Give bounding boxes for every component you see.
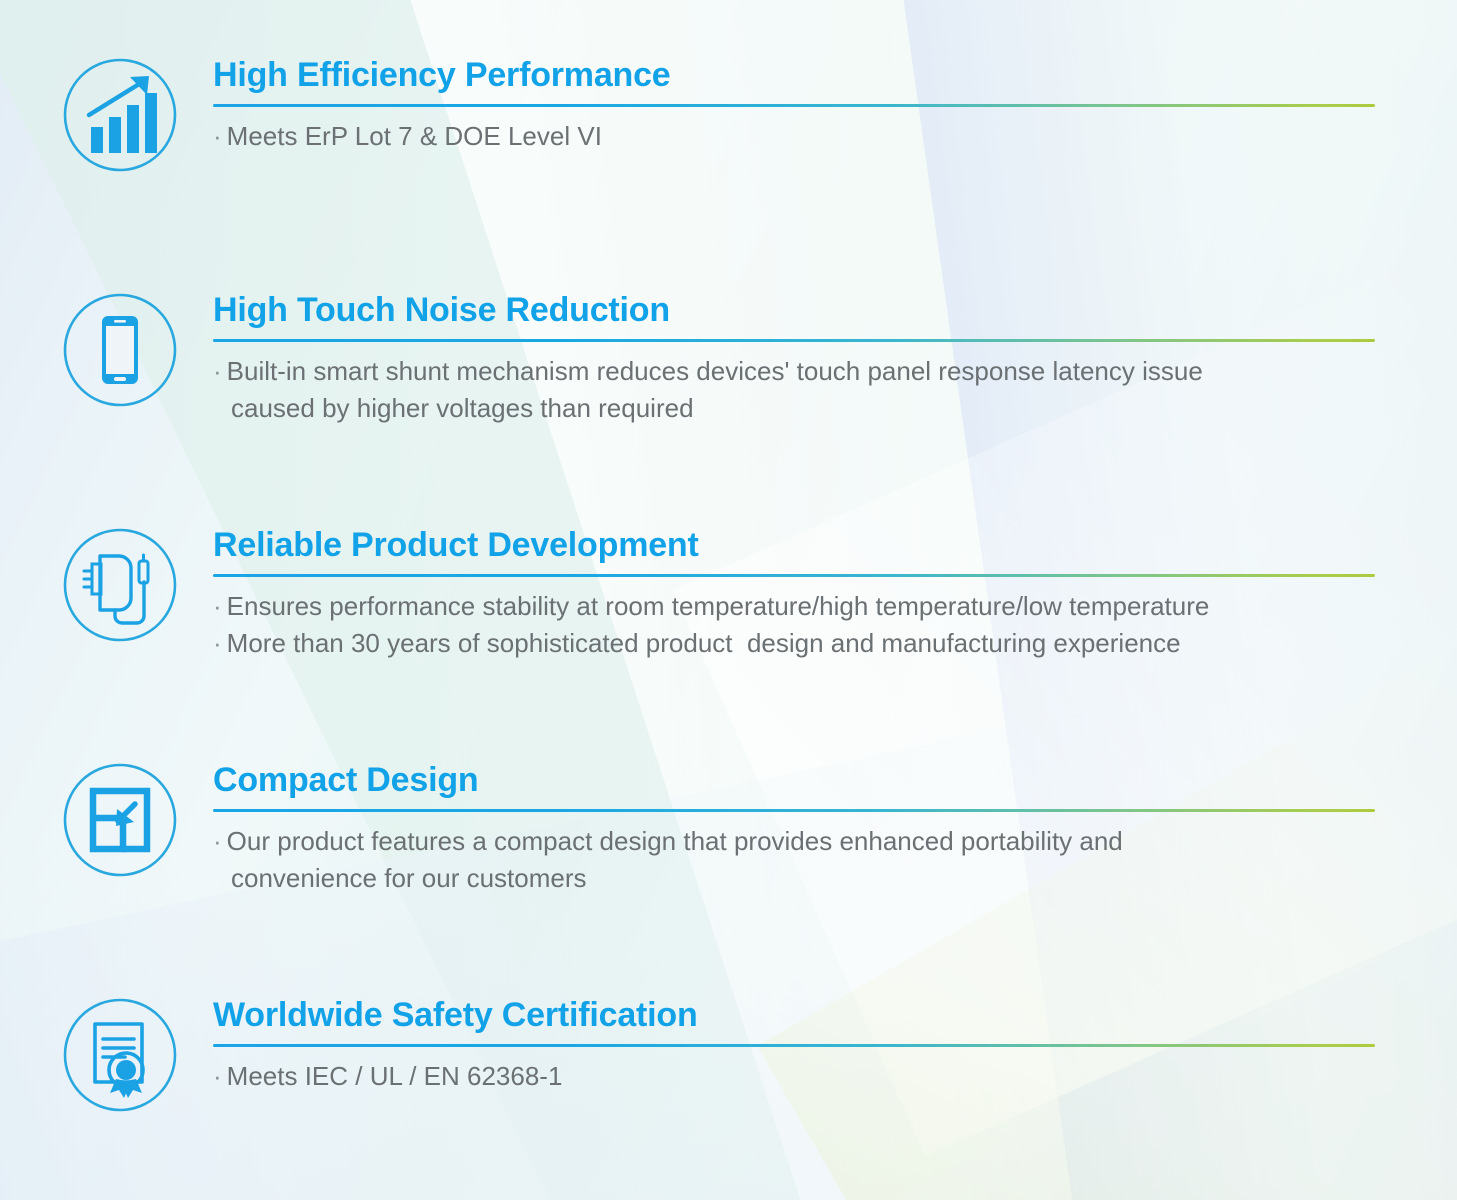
- feature-divider: [213, 809, 1375, 812]
- bullet-item: ·Our product features a compact design t…: [213, 823, 1375, 897]
- bullet-marker: ·: [213, 1061, 222, 1091]
- certificate-award-icon: [60, 995, 180, 1115]
- feature-body: Compact Design ·Our product features a c…: [213, 760, 1375, 897]
- feature-divider: [213, 339, 1375, 342]
- bullet-text: Built-in smart shunt mechanism reduces d…: [227, 356, 1203, 386]
- power-adapter-icon: [60, 525, 180, 645]
- bullet-text: More than 30 years of sophisticated prod…: [227, 628, 1181, 658]
- feature-divider: [213, 574, 1375, 577]
- feature-bullets: ·Ensures performance stability at room t…: [213, 588, 1375, 662]
- feature-title: Worldwide Safety Certification: [213, 995, 1375, 1035]
- bullet-marker: ·: [213, 121, 222, 151]
- feature-body: Reliable Product Development ·Ensures pe…: [213, 525, 1375, 662]
- bullet-text: Our product features a compact design th…: [227, 826, 1123, 856]
- compact-resize-icon: [60, 760, 180, 880]
- bullet-text: Meets ErP Lot 7 & DOE Level VI: [227, 121, 602, 151]
- feature-divider: [213, 104, 1375, 107]
- bullet-item: ·Built-in smart shunt mechanism reduces …: [213, 353, 1375, 427]
- bullet-marker: ·: [213, 628, 222, 658]
- bullet-item: ·Ensures performance stability at room t…: [213, 588, 1375, 625]
- bullet-text-continued: caused by higher voltages than required: [213, 390, 1375, 427]
- feature-title: Reliable Product Development: [213, 525, 1375, 565]
- feature-title: Compact Design: [213, 760, 1375, 800]
- bullet-item: ·Meets IEC / UL / EN 62368-1: [213, 1058, 1375, 1095]
- bar-chart-growth-icon: [60, 55, 180, 175]
- bullet-marker: ·: [213, 826, 222, 856]
- feature-divider: [213, 1044, 1375, 1047]
- bullet-text: Meets IEC / UL / EN 62368-1: [227, 1061, 563, 1091]
- feature-bullets: ·Our product features a compact design t…: [213, 823, 1375, 897]
- feature-highlights-page: High Efficiency Performance ·Meets ErP L…: [0, 0, 1457, 1200]
- feature-body: High Touch Noise Reduction ·Built-in sma…: [213, 290, 1375, 427]
- feature-bullets: ·Meets IEC / UL / EN 62368-1: [213, 1058, 1375, 1095]
- background-arc: [0, 600, 1457, 1200]
- bullet-item: ·More than 30 years of sophisticated pro…: [213, 625, 1375, 662]
- feature-body: High Efficiency Performance ·Meets ErP L…: [213, 55, 1375, 155]
- feature-bullets: ·Built-in smart shunt mechanism reduces …: [213, 353, 1375, 427]
- bullet-text-continued: convenience for our customers: [213, 860, 1375, 897]
- bullet-marker: ·: [213, 591, 222, 621]
- feature-bullets: ·Meets ErP Lot 7 & DOE Level VI: [213, 118, 1375, 155]
- feature-title: High Touch Noise Reduction: [213, 290, 1375, 330]
- feature-title: High Efficiency Performance: [213, 55, 1375, 95]
- bullet-text: Ensures performance stability at room te…: [227, 591, 1210, 621]
- feature-body: Worldwide Safety Certification ·Meets IE…: [213, 995, 1375, 1095]
- background-band-bottom-right-green: [757, 596, 1457, 1200]
- bullet-marker: ·: [213, 356, 222, 386]
- smartphone-icon: [60, 290, 180, 410]
- bullet-item: ·Meets ErP Lot 7 & DOE Level VI: [213, 118, 1375, 155]
